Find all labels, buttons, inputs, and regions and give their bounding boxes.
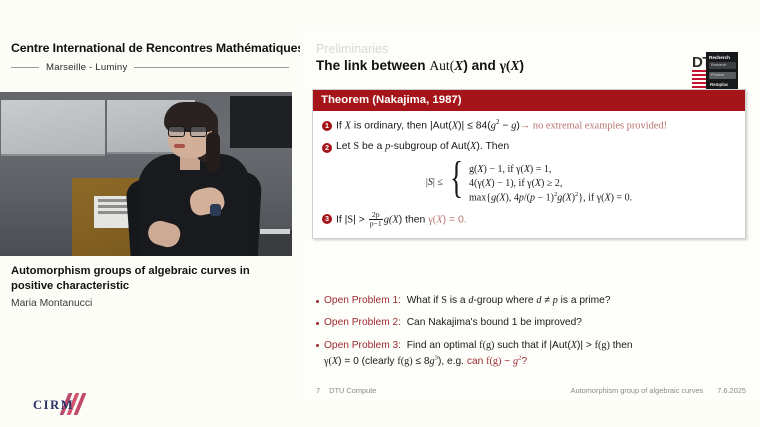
slide-title-calx-2: X — [510, 58, 519, 73]
slide-title-calx-1: X — [454, 58, 463, 73]
theorem-item-1-badge: 1 — [322, 121, 332, 131]
overlay-header: Recherch — [706, 52, 738, 62]
theorem-header: Theorem (Nakajima, 1987) — [313, 90, 745, 111]
cirm-logo-text: CIRM — [33, 398, 74, 413]
institute-subtitle-row: Marseille - Luminy — [11, 62, 289, 73]
cirm-logo: CIRM — [28, 392, 118, 418]
footer-department: DTU Compute — [329, 386, 376, 395]
p1-d: is a prime? — [558, 295, 611, 306]
open-problem-1-label: Open Problem 1: — [324, 295, 401, 306]
footer-date: 7.6.2025 — [717, 386, 746, 395]
p3-l2d: ), e.g. — [438, 356, 467, 367]
theorem-item-1-text: If X is ordinary, then |Aut(X)| ≤ 84(g2 … — [336, 118, 667, 134]
slide-title-mid: ) and — [463, 58, 499, 73]
c3-d: − 1) — [535, 192, 554, 203]
slide-area: Preliminaries The link between Aut(X) an… — [300, 26, 760, 401]
c2-c: ) ≥ 2, — [541, 178, 562, 189]
theorem-item-2-text: Let S be a p-subgroup of Aut(X). Then — [336, 140, 509, 155]
rule-left — [11, 67, 39, 68]
theorem-item-3: 3 If |S| > 2pp−1g(X) then γ(X) = 0. — [322, 211, 736, 228]
slide-title-before: The link between — [316, 58, 429, 73]
theorem-item-2: 2 Let S be a p-subgroup of Aut(X). Then — [322, 140, 736, 155]
bullet-icon-1 — [316, 300, 319, 303]
p1-a: What if — [407, 295, 442, 306]
open-problem-2-content: Open Problem 2: Can Nakajima's bound 1 b… — [324, 316, 582, 330]
display-math-cases: g(X) − 1, if γ(X) = 1, 4(γ(X) − 1), if γ… — [469, 161, 632, 203]
talk-title: Automorphism groups of algebraic curves … — [11, 264, 281, 294]
presentation-viewer: Centre International de Rencontres Mathé… — [0, 0, 760, 427]
left-info-panel: Centre International de Rencontres Mathé… — [0, 0, 296, 427]
t1-mid: is ordinary, then |Aut( — [351, 120, 452, 131]
theorem-display-math: |S| ≤ { g(X) − 1, if γ(X) = 1, 4(γ(X) − … — [322, 161, 736, 203]
speaker-ponytail — [206, 132, 220, 172]
p3-fg3: f(g) — [397, 356, 412, 367]
t3-lead: If | — [336, 215, 347, 226]
c3-g2: g( — [557, 192, 565, 203]
theorem-item-3-badge: 3 — [322, 214, 332, 224]
speaker-mouth — [174, 144, 185, 148]
t2-mid2: -subgroup of Aut( — [390, 141, 470, 152]
bullet-icon-3 — [316, 344, 319, 347]
p1-neq: ≠ — [541, 295, 552, 306]
c1-gamma: γ( — [516, 164, 524, 175]
t3-frac-den: p−1 — [369, 220, 383, 228]
rule-right — [134, 67, 289, 68]
p3-fg2: f(g) — [595, 340, 610, 351]
p3-fg1: f(g) — [479, 340, 494, 351]
speaker-name: Maria Montanucci — [11, 298, 92, 309]
p3-red-a: can — [467, 356, 486, 367]
p3-l1a: Find an optimal — [407, 340, 479, 351]
dark-board — [230, 96, 292, 148]
c2-g1: γ( — [477, 178, 485, 189]
bullet-icon-2 — [316, 322, 319, 325]
light-strip — [260, 229, 290, 234]
p3-l2c: ≤ 8 — [413, 356, 430, 367]
slide-section-label: Preliminaries — [316, 42, 388, 56]
c3-a: max{ — [469, 192, 491, 203]
p1-c: -group where — [474, 295, 537, 306]
overlay-search-input[interactable]: Recherch — [709, 62, 736, 69]
p3-l1b: such that if |Aut( — [494, 340, 570, 351]
open-problem-1-content: Open Problem 1: What if S is a d-group w… — [324, 294, 610, 308]
c1-c: ) = 1, — [530, 164, 551, 175]
c3-gamma: γ( — [597, 192, 605, 203]
footer-talk-title: Automorphism group of algebraic curves — [571, 386, 704, 395]
p3-l2a: γ( — [324, 356, 332, 367]
open-problem-2-label: Open Problem 2: — [324, 317, 401, 328]
slide-footer: 7 DTU Compute Automorphism group of alge… — [316, 386, 746, 395]
t1-faded-tail: → no extremal examples provided! — [520, 120, 667, 131]
open-problem-3: Open Problem 3: Find an optimal f(g) suc… — [316, 339, 752, 369]
open-problems-list: Open Problem 1: What if S is a d-group w… — [316, 294, 752, 377]
t1-lead: If — [336, 120, 345, 131]
open-problem-2: Open Problem 2: Can Nakajima's bound 1 b… — [316, 316, 752, 330]
theorem-item-3-text: If |S| > 2pp−1g(X) then γ(X) = 0. — [336, 211, 467, 228]
t3-mid: ) then — [399, 215, 428, 226]
t2-lead: Let — [336, 141, 353, 152]
open-problem-3-content: Open Problem 3: Find an optimal f(g) suc… — [324, 339, 633, 369]
dtu-logo: DTU Recherch Recherch Précéde Remplac — [692, 46, 738, 84]
overlay-previous-button[interactable]: Précéde — [709, 72, 736, 79]
overlay-replace-item[interactable]: Remplac — [706, 82, 738, 87]
video-player[interactable] — [0, 92, 292, 256]
theorem-item-1: 1 If X is ordinary, then |Aut(X)| ≤ 84(g… — [322, 118, 736, 134]
display-math-case-2: 4(γ(X) − 1), if γ(X) ≥ 2, — [469, 178, 632, 189]
slide-title: The link between Aut(X) and γ(X) — [316, 58, 524, 74]
institute-title: Centre International de Rencontres Mathé… — [11, 41, 304, 55]
display-math-lhs: |S| ≤ — [426, 161, 446, 188]
p2-a: Can Nakajima's bound 1 be improved? — [407, 317, 582, 328]
footer-left: 7 DTU Compute — [316, 386, 376, 395]
theorem-body: 1 If X is ordinary, then |Aut(X)| ≤ 84(g… — [313, 111, 745, 238]
c3-g: ) = 0. — [611, 192, 632, 203]
slide-title-aut: Aut( — [429, 58, 454, 73]
footer-right: Automorphism group of algebraic curves 7… — [571, 386, 746, 395]
theorem-box: Theorem (Nakajima, 1987) 1 If X is ordin… — [312, 89, 746, 239]
t2-close: ). Then — [476, 141, 509, 152]
p3-l1c: )| > — [577, 340, 595, 351]
t3-gt: | > — [353, 215, 368, 226]
t3-fraction: 2pp−1 — [369, 211, 383, 228]
c3-f: }, if — [578, 192, 596, 203]
c3-b: ), 4 — [506, 192, 519, 203]
display-math-brace: { — [450, 161, 463, 195]
open-problem-1: Open Problem 1: What if S is a d-group w… — [316, 294, 752, 308]
slide-title-gamma: γ( — [500, 58, 511, 73]
t1-mid2: )| ≤ 84( — [458, 120, 491, 131]
t3-tail: ) = 0. — [443, 215, 467, 226]
c1-b: ) − 1, if — [483, 164, 516, 175]
c2-b: ) − 1), if — [491, 178, 527, 189]
t2-mid: be a — [359, 141, 385, 152]
p3-l2b: ) = 0 (clearly — [338, 356, 397, 367]
c2-g2: γ( — [527, 178, 535, 189]
t1-minus: − — [499, 120, 511, 131]
display-math-case-3: max{g(X), 4p/(p − 1)2g(X)2}, if γ(X) = 0… — [469, 191, 632, 203]
open-problem-3-label: Open Problem 3: — [324, 340, 401, 351]
theorem-item-2-badge: 2 — [322, 143, 332, 153]
institute-subtitle: Marseille - Luminy — [46, 62, 127, 73]
p3-red-c: ? — [521, 356, 527, 367]
footer-page-number: 7 — [316, 386, 320, 395]
display-math-case-1: g(X) − 1, if γ(X) = 1, — [469, 164, 632, 175]
p1-b: is a — [447, 295, 469, 306]
whiteboard-left — [1, 100, 105, 156]
speaker-watch — [210, 204, 221, 216]
p3-l1d: then — [610, 340, 633, 351]
slide-title-after: ) — [520, 58, 525, 73]
dm-bar2: | ≤ — [433, 177, 443, 188]
p3-red-b: ~ — [501, 356, 513, 367]
speaker-glasses — [168, 126, 210, 137]
p3-fg4: f(g) — [486, 356, 501, 367]
